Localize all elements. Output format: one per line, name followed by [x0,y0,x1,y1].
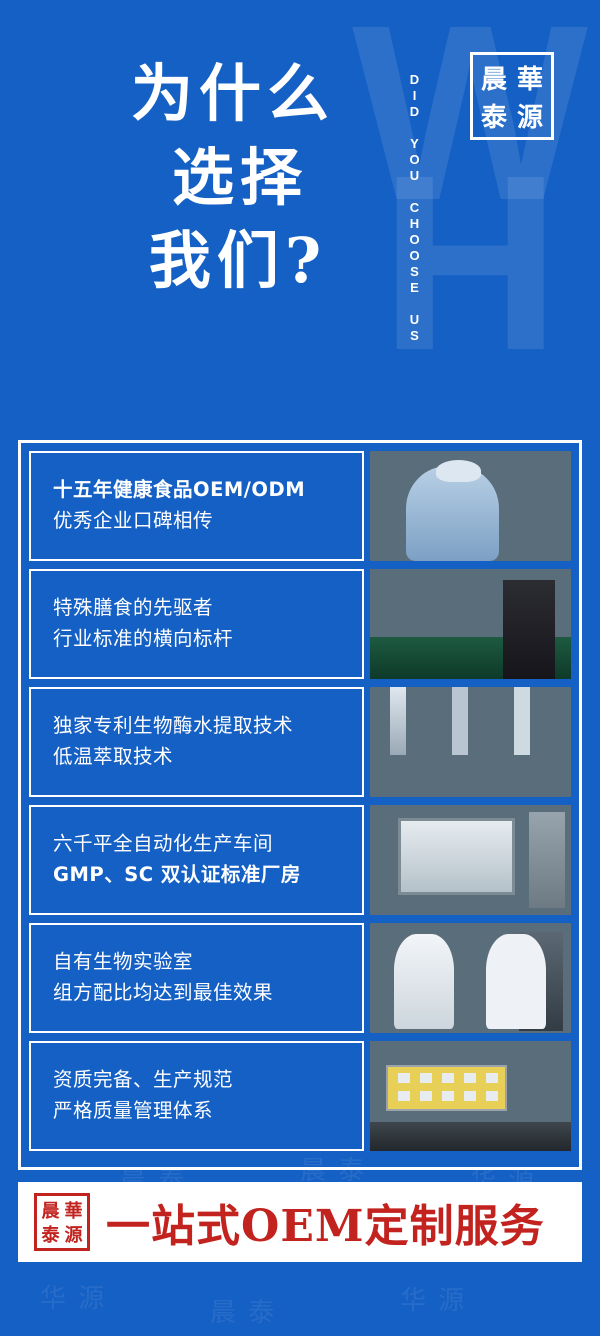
list-item: 十五年健康食品OEM/ODM 优秀企业口碑相传 [29,451,571,561]
reason-textbox: 资质完备、生产规范 严格质量管理体系 [29,1041,364,1151]
list-item: 资质完备、生产规范 严格质量管理体系 [29,1041,571,1151]
conference-meeting-photo [370,569,571,679]
reason-line-2: 严格质量管理体系 [53,1096,362,1127]
reason-textbox: 自有生物实验室 组方配比均达到最佳效果 [29,923,364,1033]
poster-root: W H 华 源 晨 泰 华 源 晨 泰 华 源 晨 泰 为什么 选择 我们? D… [0,0,600,1336]
reason-line-1: 自有生物实验室 [53,947,362,978]
list-item: 自有生物实验室 组方配比均达到最佳效果 [29,923,571,1033]
reason-line-1: 特殊膳食的先驱者 [53,593,362,624]
footer-slogan-text: 一站式OEM定制服务 [106,1190,545,1254]
list-item: 特殊膳食的先驱者 行业标准的横向标杆 [29,569,571,679]
reason-line-1: 资质完备、生产规范 [53,1065,362,1096]
seal-char: 晨 [39,1198,62,1222]
reason-textbox: 特殊膳食的先驱者 行业标准的横向标杆 [29,569,364,679]
seal-char: 華 [512,58,548,96]
lab-technician-photo [370,451,571,561]
cleanroom-workshop-photo [370,805,571,915]
seal-char: 晨 [476,58,512,96]
seal-char: 泰 [476,96,512,134]
seal-char: 泰 [39,1222,62,1246]
vertical-english-subtitle: DID YOU CHOOSE US [398,28,424,388]
blister-packing-photo [370,1041,571,1151]
title-line-1: 为什么 [88,52,378,136]
reason-line-1: 独家专利生物酶水提取技术 [53,711,362,742]
reason-line-2: 优秀企业口碑相传 [53,506,362,537]
biology-laboratory-photo [370,923,571,1033]
reason-textbox: 独家专利生物酶水提取技术 低温萃取技术 [29,687,364,797]
title-line-2: 选择 [88,136,378,220]
watermark: 晨 泰 [210,1292,276,1329]
footer-seal-logo: 晨 華 泰 源 [34,1193,90,1251]
reason-textbox: 六千平全自动化生产车间 GMP、SC 双认证标准厂房 [29,805,364,915]
reason-line-1: 十五年健康食品OEM/ODM [53,475,362,506]
seal-char: 源 [62,1222,85,1246]
filling-line-photo [370,687,571,797]
reason-line-2: GMP、SC 双认证标准厂房 [53,860,362,891]
reason-line-2: 组方配比均达到最佳效果 [53,978,362,1009]
seal-char: 華 [62,1198,85,1222]
reasons-panel: 十五年健康食品OEM/ODM 优秀企业口碑相传 特殊膳食的先驱者 行业标准的横向… [18,440,582,1170]
title-line-3: 我们? [88,219,378,303]
list-item: 六千平全自动化生产车间 GMP、SC 双认证标准厂房 [29,805,571,915]
reason-line-2: 行业标准的横向标杆 [53,624,362,655]
list-item: 独家专利生物酶水提取技术 低温萃取技术 [29,687,571,797]
footer-slogan-bar: 晨 華 泰 源 一站式OEM定制服务 [18,1182,582,1262]
reason-textbox: 十五年健康食品OEM/ODM 优秀企业口碑相传 [29,451,364,561]
reason-line-2: 低温萃取技术 [53,742,362,773]
watermark: 华 源 [40,1278,106,1315]
seal-char: 源 [512,96,548,134]
page-title: 为什么 选择 我们? [88,52,378,303]
reason-line-1: 六千平全自动化生产车间 [53,829,362,860]
brand-seal-logo: 晨 華 泰 源 [470,52,554,140]
watermark: 华 源 [400,1280,466,1317]
